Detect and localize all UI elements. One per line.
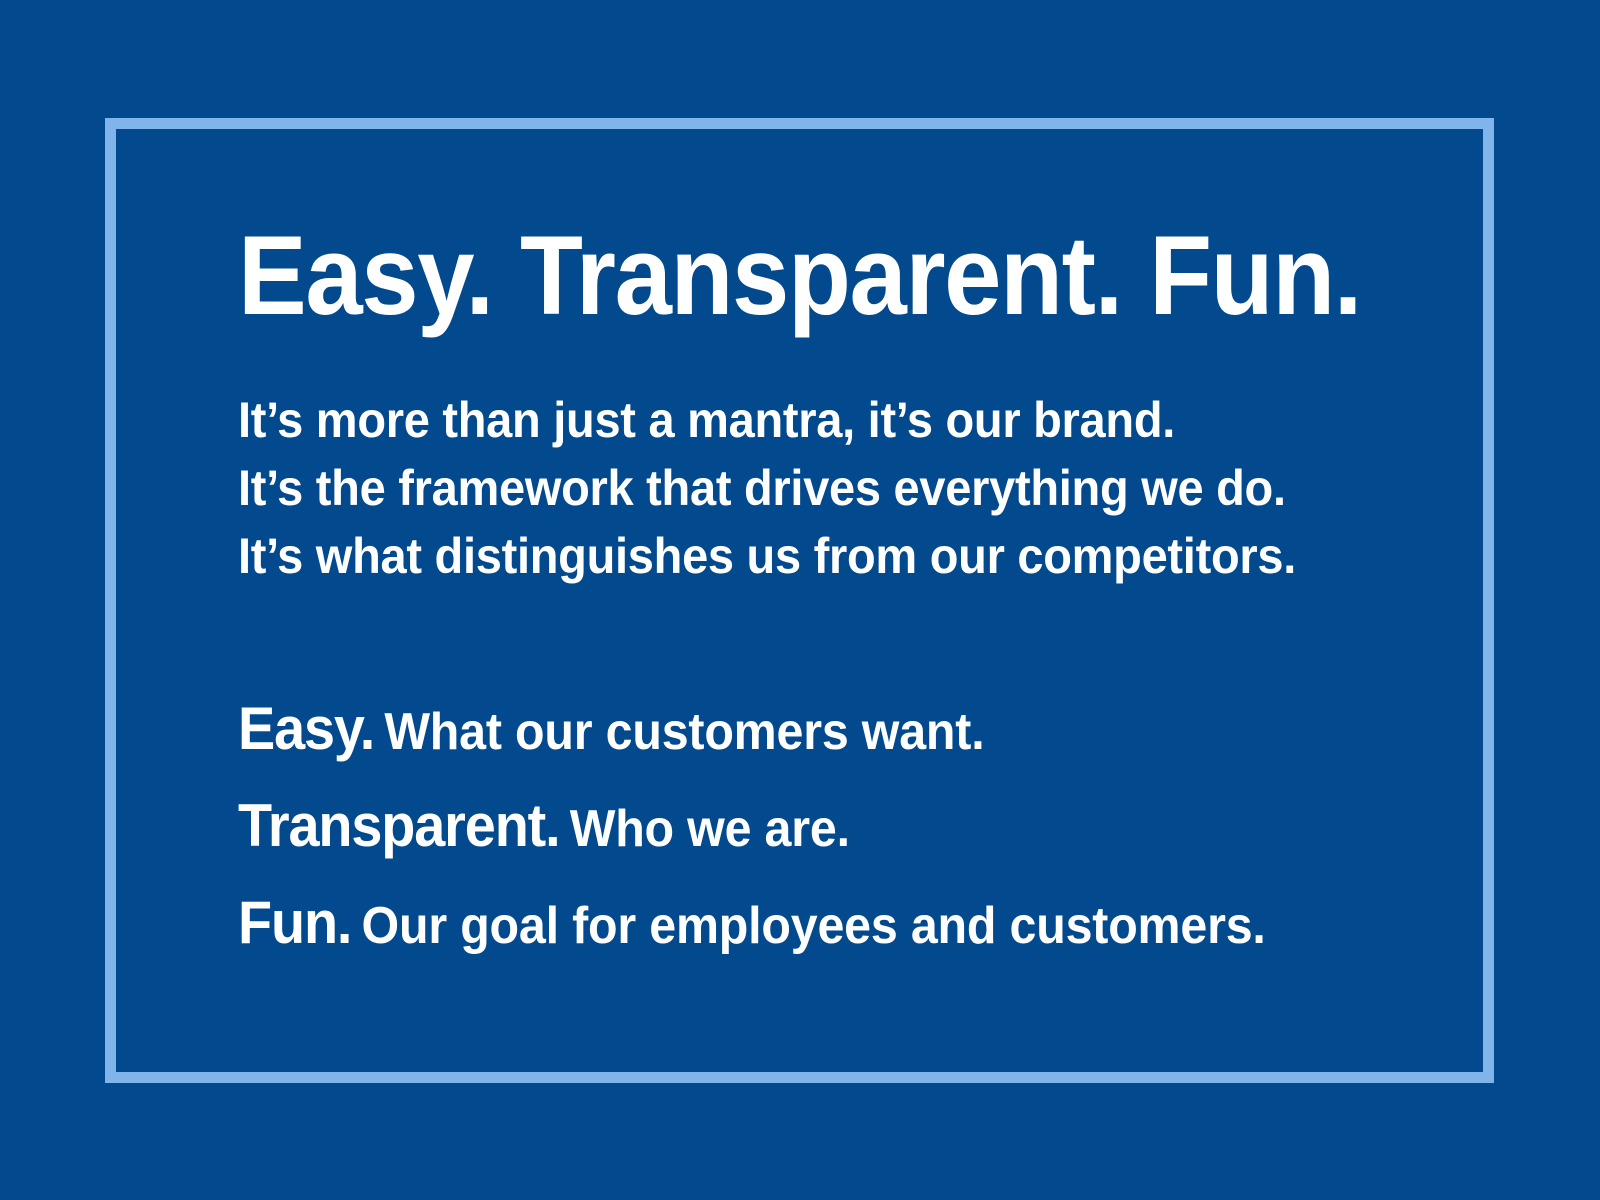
definition-description-fun: Our goal for employees and customers. [351,897,1265,955]
page-title: Easy. Transparent. Fun. [238,218,1324,334]
definition-item-fun: Fun.Our goal for employees and customers… [238,882,1335,979]
definition-description-transparent: Who we are. [560,800,850,858]
slide-content: Easy. Transparent. Fun. It’s more than j… [238,218,1418,979]
definition-description-easy: What our customers want. [374,703,984,761]
definition-item-easy: Easy.What our customers want. [238,688,1335,785]
slide-canvas: Easy. Transparent. Fun. It’s more than j… [0,0,1600,1200]
definition-term-easy: Easy. [238,695,374,762]
definition-term-transparent: Transparent. [238,792,560,859]
definition-list: Easy.What our customers want. Transparen… [238,688,1418,979]
intro-paragraph-line-3: It’s what distinguishes us from our comp… [238,522,1347,590]
definition-item-transparent: Transparent.Who we are. [238,785,1335,882]
definition-term-fun: Fun. [238,889,351,956]
intro-paragraph: It’s more than just a mantra, it’s our b… [238,386,1418,590]
intro-paragraph-line-2: It’s the framework that drives everythin… [238,454,1347,522]
intro-paragraph-line-1: It’s more than just a mantra, it’s our b… [238,386,1347,454]
